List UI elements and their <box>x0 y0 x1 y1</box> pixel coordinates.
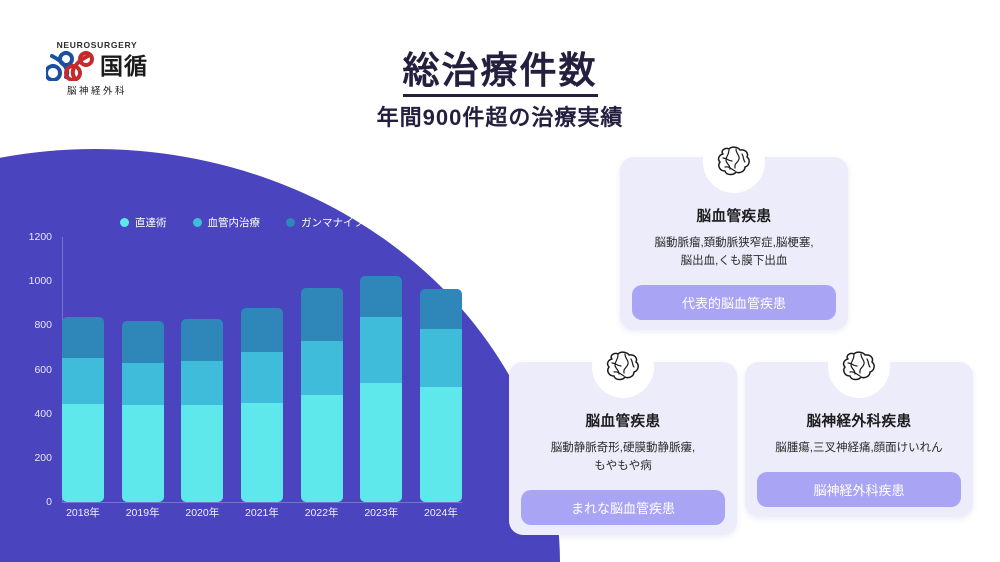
bar-segment <box>420 329 462 387</box>
x-axis-tick-label: 2024年 <box>420 505 462 520</box>
bar-segment <box>420 289 462 329</box>
x-axis-tick-label: 2019年 <box>122 505 164 520</box>
y-axis-tick-label: 200 <box>34 452 52 464</box>
bar-segment <box>241 403 283 502</box>
legend-item[interactable]: ガンマナイフ <box>286 215 364 230</box>
x-axis-tick-label: 2020年 <box>181 505 223 520</box>
legend-label: ガンマナイフ <box>301 215 364 230</box>
legend-color-swatch <box>193 218 202 227</box>
bar-column[interactable] <box>360 237 402 502</box>
page-subtitle: 年間900件超の治療実績 <box>0 100 1000 132</box>
treatment-volume-chart: 直達術血管内治療ガンマナイフ 020040060080010001200 201… <box>0 215 470 535</box>
bar-group <box>62 237 462 502</box>
bar-segment <box>241 308 283 352</box>
legend-color-swatch <box>120 218 129 227</box>
stacked-bar[interactable] <box>420 289 462 502</box>
bar-segment <box>360 383 402 502</box>
disease-card[interactable]: 脳神経外科疾患 脳腫瘍,三叉神経痛,顔面けいれん 脳神経外科疾患 <box>745 362 973 517</box>
bar-segment <box>241 352 283 403</box>
bar-segment <box>62 404 104 502</box>
bar-segment <box>301 341 343 395</box>
legend-label: 直達術 <box>135 215 167 230</box>
card-category-pill[interactable]: まれな脳血管疾患 <box>521 490 725 525</box>
card-description: 脳動静脈奇形,硬膜動静脈瘻, もやもや病 <box>551 440 695 476</box>
card-description: 脳動脈瘤,頚動脈狭窄症,脳梗塞, 脳出血,くも膜下出血 <box>654 235 813 271</box>
y-axis-tick-label: 1200 <box>29 231 52 243</box>
bar-segment <box>360 276 402 317</box>
bar-segment <box>301 288 343 341</box>
bar-segment <box>301 395 343 502</box>
bar-segment <box>181 361 223 405</box>
disease-card[interactable]: 脳血管疾患 脳動脈瘤,頚動脈狭窄症,脳梗塞, 脳出血,くも膜下出血 代表的脳血管… <box>620 157 848 330</box>
bar-column[interactable] <box>122 237 164 502</box>
bar-segment <box>122 363 164 405</box>
x-axis-tick-label: 2023年 <box>360 505 402 520</box>
brain-icon <box>592 336 654 398</box>
legend-item[interactable]: 直達術 <box>120 215 167 230</box>
stacked-bar[interactable] <box>181 319 223 502</box>
chart-legend: 直達術血管内治療ガンマナイフ <box>120 215 364 230</box>
legend-item[interactable]: 血管内治療 <box>193 215 261 230</box>
card-title: 脳血管疾患 <box>697 205 772 226</box>
bar-segment <box>181 319 223 361</box>
stacked-bar[interactable] <box>122 321 164 502</box>
bar-segment <box>360 317 402 383</box>
y-axis-tick-label: 600 <box>34 364 52 376</box>
bar-segment <box>122 321 164 363</box>
slide-canvas: NEUROSURGERY 国循 脳神経外科 総治療件数 年間900件超の治療実績… <box>0 0 1000 562</box>
x-axis-tick-label: 2022年 <box>301 505 343 520</box>
bar-column[interactable] <box>301 237 343 502</box>
bar-segment <box>420 387 462 502</box>
bar-segment <box>62 358 104 403</box>
bar-segment <box>62 317 104 359</box>
bar-column[interactable] <box>420 237 462 502</box>
y-axis: 020040060080010001200 <box>0 237 60 502</box>
page-title: 総治療件数 <box>0 40 1000 94</box>
stacked-bar[interactable] <box>360 276 402 502</box>
y-axis-tick-label: 400 <box>34 408 52 420</box>
brain-icon <box>828 336 890 398</box>
x-axis-labels: 2018年2019年2020年2021年2022年2023年2024年 <box>62 505 462 520</box>
y-axis-tick-label: 1000 <box>29 275 52 287</box>
card-category-pill[interactable]: 脳神経外科疾患 <box>757 472 961 507</box>
bar-column[interactable] <box>62 237 104 502</box>
card-description: 脳腫瘍,三叉神経痛,顔面けいれん <box>775 440 942 458</box>
bar-segment <box>181 405 223 502</box>
chart-plot-area: 020040060080010001200 2018年2019年2020年202… <box>0 237 470 537</box>
legend-color-swatch <box>286 218 295 227</box>
stacked-bar[interactable] <box>241 308 283 502</box>
brain-icon <box>703 131 765 193</box>
page-title-text: 総治療件数 <box>403 50 598 97</box>
legend-label: 血管内治療 <box>208 215 261 230</box>
x-axis-line <box>62 502 462 503</box>
bar-column[interactable] <box>181 237 223 502</box>
x-axis-tick-label: 2018年 <box>62 505 104 520</box>
card-title: 脳神経外科疾患 <box>807 410 912 431</box>
y-axis-tick-label: 0 <box>46 496 52 508</box>
stacked-bar[interactable] <box>62 317 104 502</box>
bar-column[interactable] <box>241 237 283 502</box>
card-title: 脳血管疾患 <box>586 410 661 431</box>
disease-card[interactable]: 脳血管疾患 脳動静脈奇形,硬膜動静脈瘻, もやもや病 まれな脳血管疾患 <box>509 362 737 535</box>
bar-segment <box>122 405 164 502</box>
x-axis-tick-label: 2021年 <box>241 505 283 520</box>
y-axis-tick-label: 800 <box>34 319 52 331</box>
stacked-bar[interactable] <box>301 288 343 502</box>
card-category-pill[interactable]: 代表的脳血管疾患 <box>632 285 836 320</box>
